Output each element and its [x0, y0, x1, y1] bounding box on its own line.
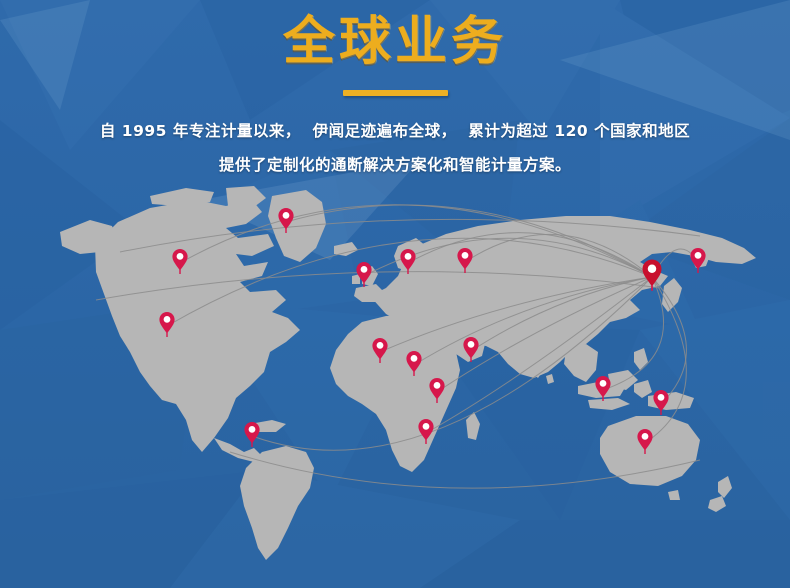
subtitle-line-1: 自 1995 年专注计量以来， 伊闻足迹遍布全球， 累计为超过 120 个国家和… [0, 114, 790, 148]
land-java [588, 398, 630, 410]
land-new-zealand-south [708, 496, 726, 512]
land-north-america [95, 200, 300, 452]
land-central-america [214, 438, 262, 462]
land-baffin [226, 186, 266, 210]
land-tasmania [668, 490, 680, 500]
title-divider [343, 90, 448, 96]
subtitle: 自 1995 年专注计量以来， 伊闻足迹遍布全球， 累计为超过 120 个国家和… [0, 114, 790, 182]
marker-new-guinea[interactable] [653, 390, 668, 415]
land-southeast-asia [564, 344, 598, 382]
land-africa [330, 314, 462, 472]
land-sri-lanka [546, 374, 554, 384]
land-australia [600, 416, 700, 486]
page-title: 全球业务 [0, 0, 790, 68]
landmasses [60, 186, 756, 560]
land-iberia [354, 284, 384, 302]
land-philippines [634, 348, 648, 370]
marker-south-america[interactable] [244, 422, 259, 447]
banner-stage: 全球业务 自 1995 年专注计量以来， 伊闻足迹遍布全球， 累计为超过 120… [0, 0, 790, 588]
marker-far-east-russia[interactable] [690, 248, 705, 273]
header: 全球业务 自 1995 年专注计量以来， 伊闻足迹遍布全球， 累计为超过 120… [0, 0, 790, 182]
land-south-america [240, 446, 314, 560]
land-japan [662, 278, 682, 312]
land-new-zealand [718, 476, 732, 498]
subtitle-line-2: 提供了定制化的通断解决方案化和智能计量方案。 [0, 148, 790, 182]
land-sulawesi [634, 380, 652, 398]
land-iceland [334, 242, 358, 256]
